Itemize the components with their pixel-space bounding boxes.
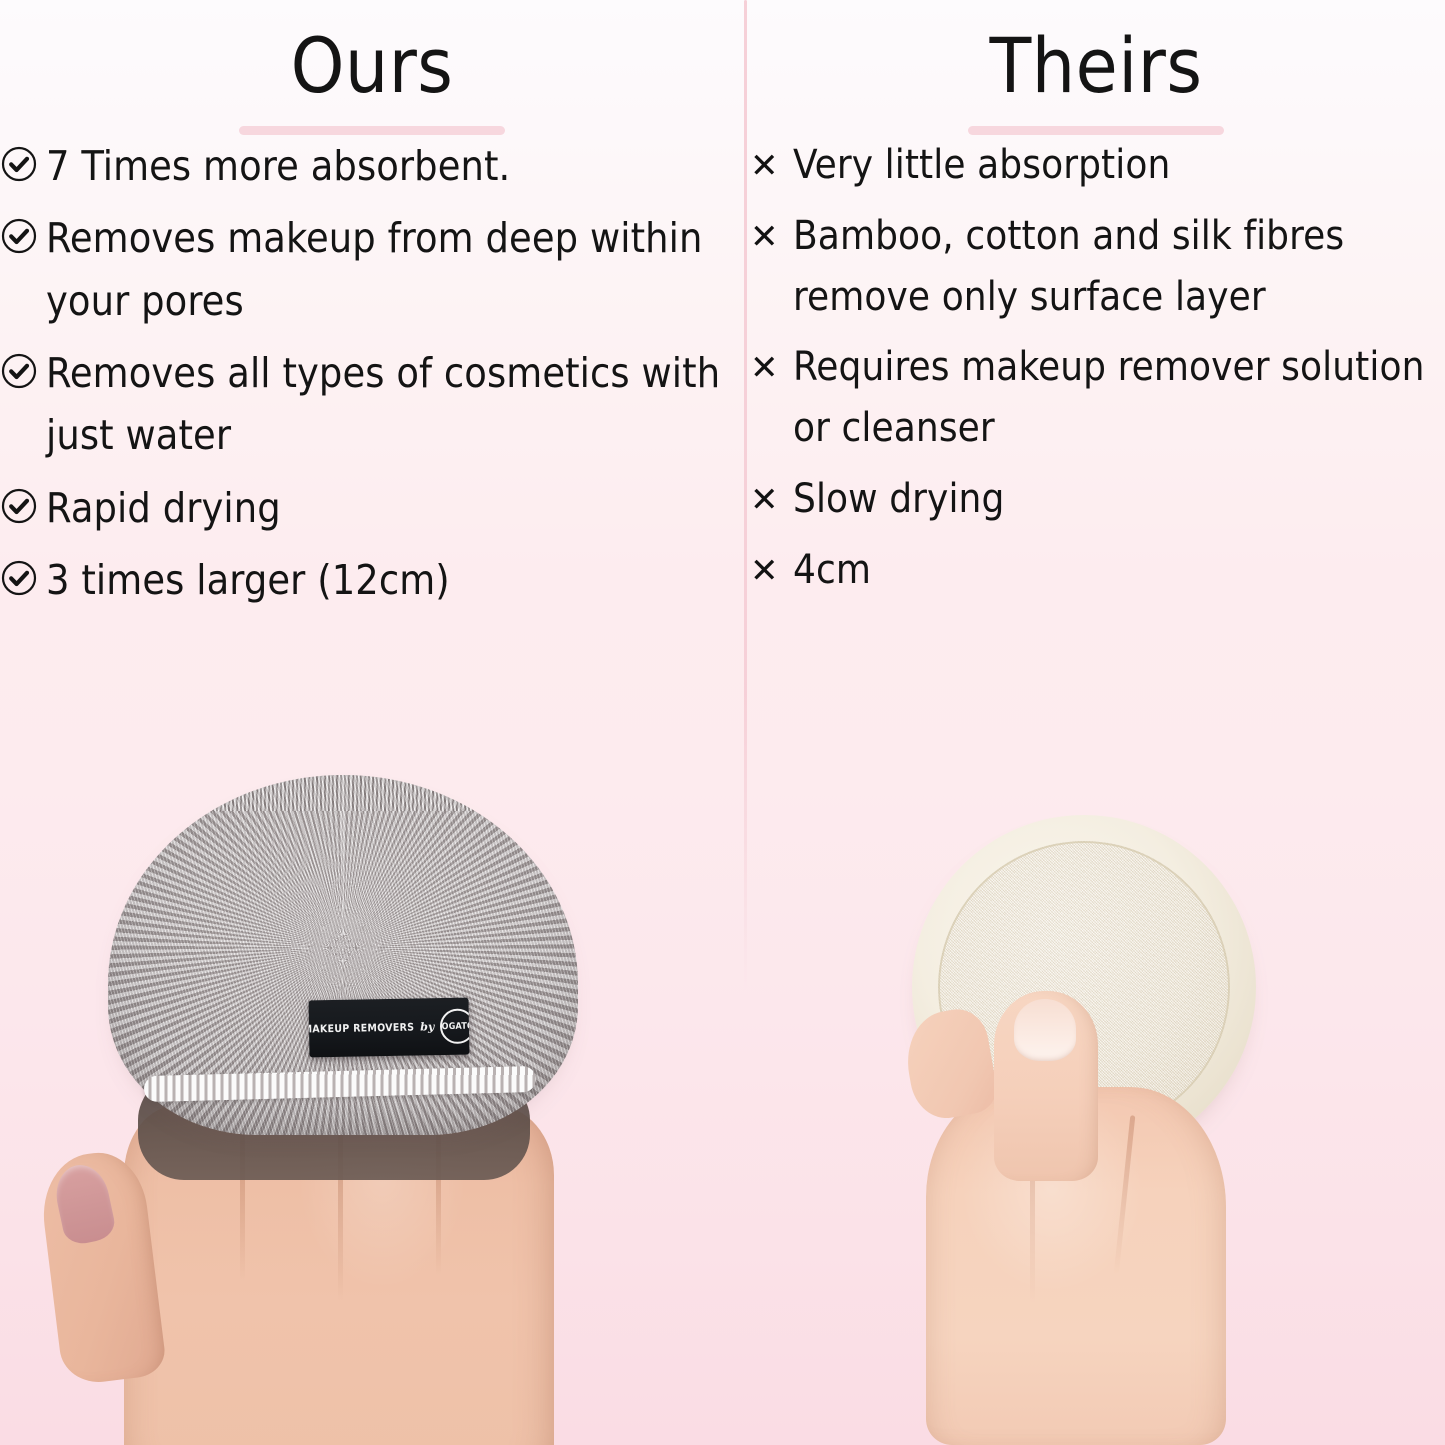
list-item: 3 times larger (12cm): [0, 549, 744, 611]
ours-heading-underline: [239, 126, 505, 135]
cross-glyph: ✕: [747, 550, 779, 588]
list-item: ✕ Very little absorption: [747, 135, 1445, 196]
ours-feature-list: 7 Times more absorbent. Removes makeup f…: [0, 135, 744, 611]
cross-glyph: ✕: [747, 216, 779, 254]
cross-glyph: ✕: [747, 479, 779, 517]
list-item: ✕ Bamboo, cotton and silk fibres remove …: [747, 206, 1445, 328]
fingernail: [1014, 999, 1076, 1061]
cross-glyph: ✕: [747, 145, 779, 183]
cross-icon: ✕: [747, 540, 793, 588]
theirs-heading: Theirs: [747, 28, 1445, 104]
list-item: 7 Times more absorbent.: [0, 135, 744, 197]
feature-text: Very little absorption: [793, 135, 1170, 196]
circle-check-icon: [0, 342, 46, 390]
theirs-product-photo: [890, 815, 1310, 1445]
thumbnail-nail: [51, 1160, 118, 1247]
circle-check-icon: [0, 135, 46, 183]
circle-check-icon: [0, 549, 46, 597]
theirs-heading-underline: [968, 126, 1224, 135]
feature-text: Removes makeup from deep within your por…: [46, 207, 744, 332]
feature-text: 4cm: [793, 540, 871, 601]
feature-text: Slow drying: [793, 469, 1004, 530]
circle-check-icon: [0, 477, 46, 525]
column-theirs: Theirs ✕ Very little absorption ✕ Bamboo…: [747, 0, 1445, 760]
feature-text: Bamboo, cotton and silk fibres remove on…: [793, 206, 1445, 328]
product-photo-area: MAKEUP REMOVERS by OGATO: [0, 755, 1445, 1445]
list-item: ✕ Slow drying: [747, 469, 1445, 530]
list-item: Rapid drying: [0, 477, 744, 539]
brand-label-text: MAKEUP REMOVERS: [309, 1021, 415, 1035]
list-item: ✕ 4cm: [747, 540, 1445, 601]
finger-crease: [1114, 1115, 1136, 1275]
cross-icon: ✕: [747, 135, 793, 183]
brand-label: MAKEUP REMOVERS by OGATO: [309, 998, 470, 1058]
cross-icon: ✕: [747, 469, 793, 517]
brand-logo-icon: OGATO: [440, 1008, 469, 1044]
list-item: Removes all types of cosmetics with just…: [0, 342, 744, 467]
ours-heading: Ours: [0, 28, 744, 104]
column-ours: Ours 7 Times more absorbent.: [0, 0, 744, 760]
ours-product-photo: MAKEUP REMOVERS by OGATO: [108, 775, 578, 1445]
brand-label-by: by: [420, 1020, 434, 1033]
list-item: Removes makeup from deep within your por…: [0, 207, 744, 332]
cross-icon: ✕: [747, 206, 793, 254]
list-item: ✕ Requires makeup remover solution or cl…: [747, 337, 1445, 459]
feature-text: Removes all types of cosmetics with just…: [46, 342, 744, 467]
cross-glyph: ✕: [747, 347, 779, 385]
theirs-heading-block: Theirs: [747, 0, 1445, 135]
cross-icon: ✕: [747, 337, 793, 385]
theirs-feature-list: ✕ Very little absorption ✕ Bamboo, cotto…: [747, 135, 1445, 601]
pad-fuzzy-edge: [116, 775, 570, 811]
index-finger: [994, 991, 1098, 1181]
feature-text: 3 times larger (12cm): [46, 549, 450, 611]
circle-check-icon: [0, 207, 46, 255]
feature-text: Requires makeup remover solution or clea…: [793, 337, 1445, 459]
ours-heading-block: Ours: [0, 0, 744, 135]
comparison-infographic: Ours 7 Times more absorbent.: [0, 0, 1445, 1445]
brand-logo-text: OGATO: [441, 1021, 469, 1032]
feature-text: 7 Times more absorbent.: [46, 135, 510, 197]
feature-text: Rapid drying: [46, 477, 281, 539]
